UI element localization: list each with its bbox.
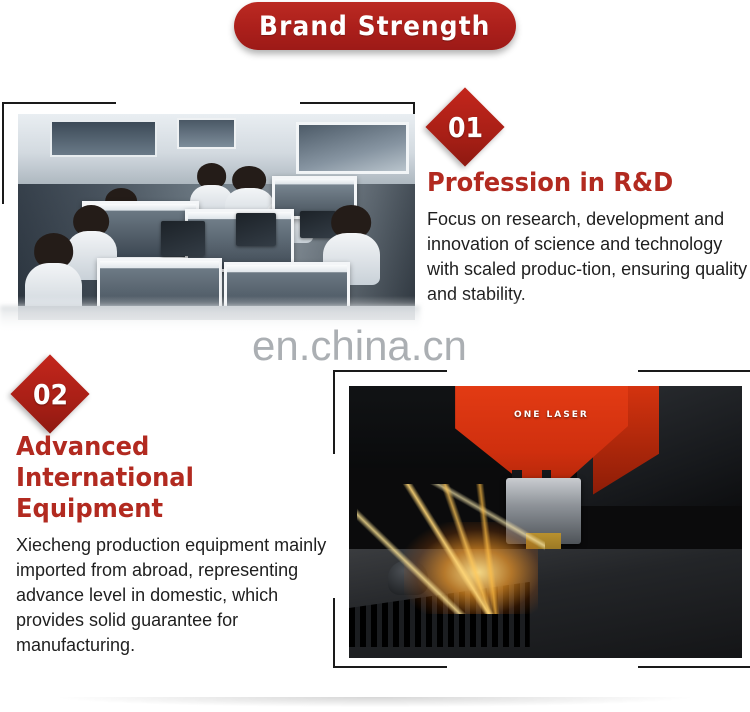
- laser-scene: ONE LASER: [349, 386, 742, 658]
- section-02-heading: Advanced International Equipment: [16, 432, 323, 525]
- section-01-photo-frame: [0, 98, 415, 320]
- office-window-right: [296, 122, 409, 173]
- sparks: [357, 484, 546, 615]
- brand-strength-page: Brand Strength: [0, 0, 750, 712]
- section-01-body: Focus on research, development and innov…: [427, 207, 750, 307]
- section-number: 02: [32, 378, 67, 411]
- office-monitor: [161, 221, 205, 256]
- section-02-number-badge: 02: [22, 366, 78, 422]
- office-desk-surface: [18, 306, 415, 320]
- office-monitor: [300, 211, 336, 238]
- office-scene: [18, 114, 415, 320]
- section-01-heading: Profession in R&D: [427, 168, 730, 199]
- section-number: 01: [447, 111, 482, 144]
- brand-strength-banner: Brand Strength: [234, 2, 516, 50]
- office-monitor: [236, 213, 276, 246]
- office-rnd-photo: [18, 114, 415, 320]
- office-window-left: [50, 120, 157, 157]
- laser-brand-label: ONE LASER: [514, 410, 589, 420]
- site-watermark: en.china.cn: [252, 322, 467, 370]
- header-banner-area: Brand Strength: [0, 0, 750, 60]
- office-person: [34, 233, 74, 311]
- laser-machine-photo: ONE LASER: [345, 382, 746, 662]
- section-01-text-block: Profession in R&D Focus on research, dev…: [427, 168, 750, 307]
- section-02-photo-frame: ONE LASER: [333, 370, 750, 666]
- bottom-shadow: [60, 697, 690, 707]
- office-window-center: [177, 118, 237, 149]
- section-02-body: Xiecheng production equipment mainly imp…: [16, 533, 346, 658]
- section-02-text-block: Advanced International Equipment Xiechen…: [16, 432, 346, 658]
- section-01-number-badge: 01: [437, 99, 493, 155]
- banner-title: Brand Strength: [259, 11, 490, 42]
